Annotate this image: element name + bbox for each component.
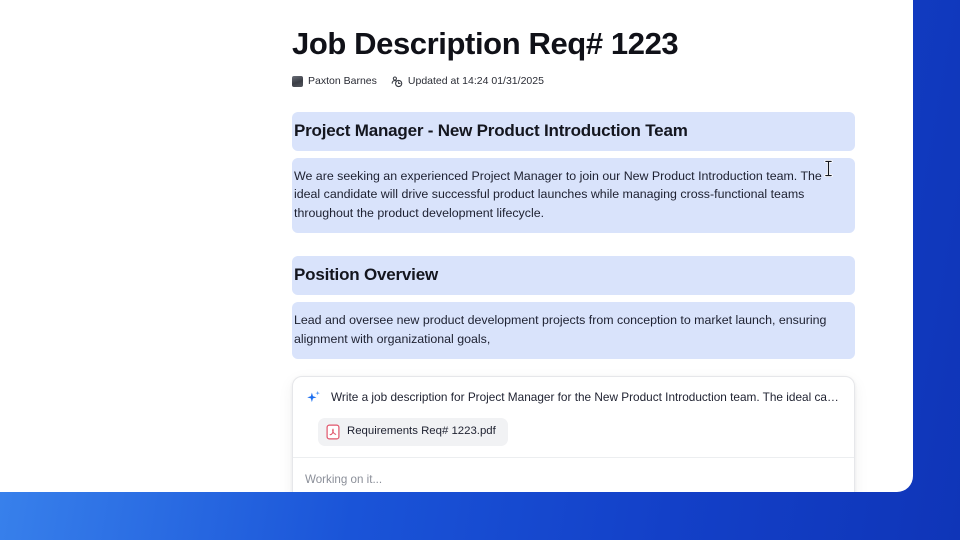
author-group: Paxton Barnes [292, 76, 377, 87]
document-surface: Job Description Req# 1223 Paxton Barnes … [0, 0, 913, 492]
page-title: Job Description Req# 1223 [292, 26, 855, 63]
section-heading[interactable]: Project Manager - New Product Introducti… [292, 112, 855, 151]
pdf-file-icon [326, 424, 340, 440]
section-body[interactable]: We are seeking an experienced Project Ma… [292, 158, 855, 234]
section-project-manager: Project Manager - New Product Introducti… [292, 112, 855, 234]
updated-group: Updated at 14:24 01/31/2025 [391, 76, 544, 88]
section-body[interactable]: Lead and oversee new product development… [292, 302, 855, 359]
ai-card-footer: Working on it... [293, 457, 854, 492]
section-heading[interactable]: Position Overview [292, 256, 855, 295]
ai-prompt-row: Write a job description for Project Mana… [305, 389, 842, 406]
ai-prompt-text: Write a job description for Project Mana… [331, 389, 842, 406]
document-content-column: Job Description Req# 1223 Paxton Barnes … [292, 26, 855, 492]
ai-attachment-filename: Requirements Req# 1223.pdf [347, 426, 496, 437]
avatar [292, 76, 303, 87]
ai-card-body: Write a job description for Project Mana… [293, 377, 854, 457]
document-metadata-row: Paxton Barnes Updated at 14:24 01/31/202… [292, 75, 855, 89]
author-name: Paxton Barnes [308, 76, 377, 87]
ai-assistant-card: Write a job description for Project Mana… [292, 376, 855, 492]
ai-status-text: Working on it... [305, 473, 382, 486]
history-clock-icon [391, 76, 403, 88]
ai-attachment-chip[interactable]: Requirements Req# 1223.pdf [318, 418, 508, 446]
ai-sparkle-icon [305, 389, 322, 406]
section-position-overview: Position Overview Lead and oversee new p… [292, 256, 855, 359]
updated-timestamp: Updated at 14:24 01/31/2025 [408, 76, 544, 87]
